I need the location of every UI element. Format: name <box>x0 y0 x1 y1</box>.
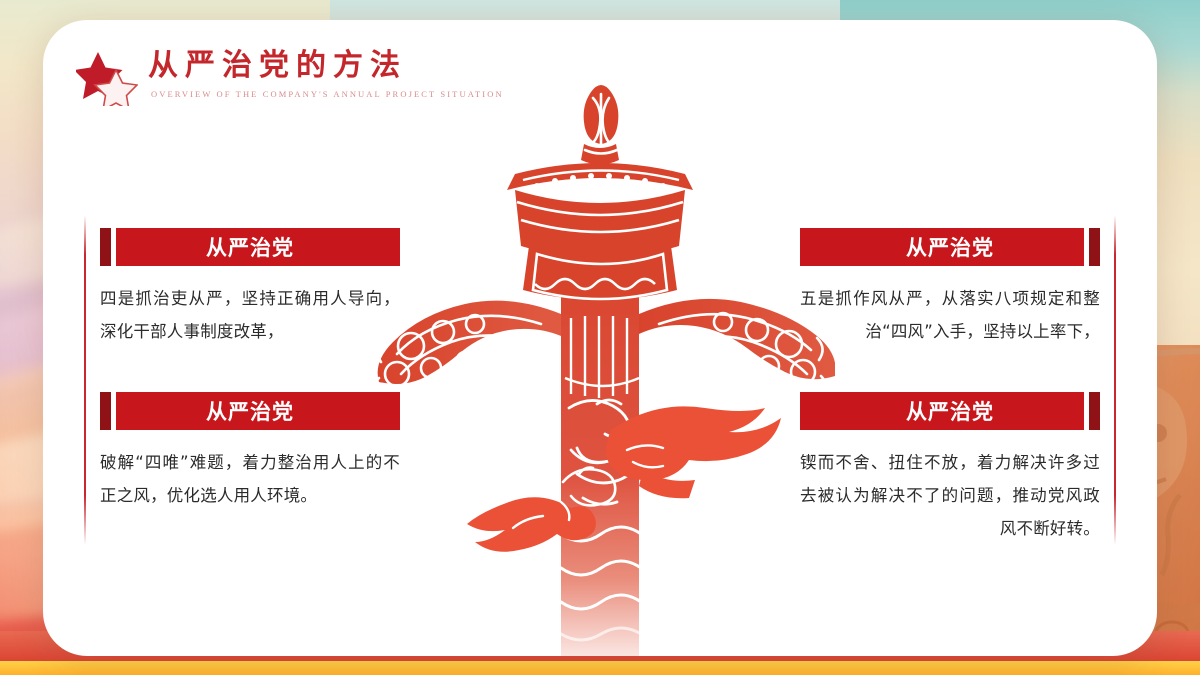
badge-box: 从严治党 <box>800 228 1084 266</box>
content-block[interactable]: 从严治党 锲而不舍、扭住不放，着力解决许多过去被认为解决不了的问题，推动党风政风… <box>800 392 1100 545</box>
status-badge: 从严治党 <box>800 228 1100 266</box>
badge-box: 从严治党 <box>116 392 400 430</box>
badge-label: 从严治党 <box>116 232 400 262</box>
content-block[interactable]: 从严治党 破解“四唯”难题，着力整治用人上的不正之风，优化选人用人环境。 <box>100 392 400 512</box>
block-body-text: 破解“四唯”难题，着力整治用人上的不正之风，优化选人用人环境。 <box>100 446 400 512</box>
status-badge: 从严治党 <box>800 392 1100 430</box>
column-hairline <box>84 215 86 545</box>
badge-tick-bar <box>1089 228 1100 266</box>
block-body-text: 五是抓作风从严，从落实八项规定和整治“四风”入手，坚持以上率下， <box>800 282 1100 348</box>
content-block[interactable]: 从严治党 五是抓作风从严，从落实八项规定和整治“四风”入手，坚持以上率下， <box>800 228 1100 348</box>
column-hairline <box>1114 215 1116 545</box>
double-star-icon <box>76 50 138 106</box>
status-badge: 从严治党 <box>100 228 400 266</box>
badge-tick-bar <box>1089 392 1100 430</box>
badge-tick-bar <box>100 228 111 266</box>
slide-canvas: 从严治党的方法 OVERVIEW OF THE COMPANY'S ANNUAL… <box>0 0 1200 675</box>
status-badge: 从严治党 <box>100 392 400 430</box>
content-card: 从严治党的方法 OVERVIEW OF THE COMPANY'S ANNUAL… <box>43 20 1157 656</box>
bottom-gold-band <box>0 661 1200 675</box>
badge-tick-bar <box>100 392 111 430</box>
huabiao-pillar-illustration <box>365 78 835 656</box>
badge-box: 从严治党 <box>800 392 1084 430</box>
block-body-text: 锲而不舍、扭住不放，着力解决许多过去被认为解决不了的问题，推动党风政风不断好转。 <box>800 446 1100 545</box>
badge-label: 从严治党 <box>800 396 1084 426</box>
badge-box: 从严治党 <box>116 228 400 266</box>
content-block[interactable]: 从严治党 四是抓治吏从严，坚持正确用人导向，深化干部人事制度改革， <box>100 228 400 348</box>
badge-label: 从严治党 <box>800 232 1084 262</box>
block-body-text: 四是抓治吏从严，坚持正确用人导向，深化干部人事制度改革， <box>100 282 400 348</box>
badge-label: 从严治党 <box>116 396 400 426</box>
